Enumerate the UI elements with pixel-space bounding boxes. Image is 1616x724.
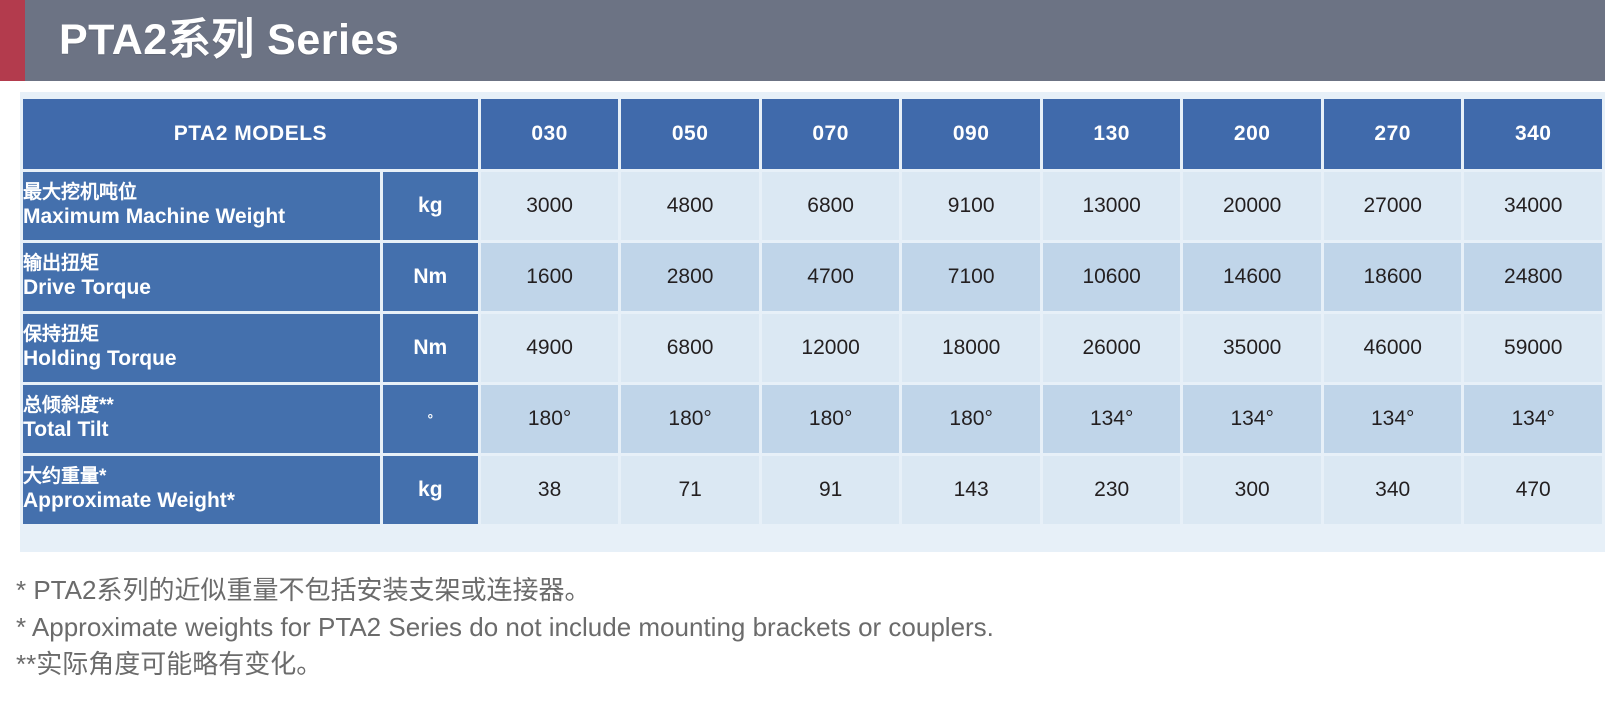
row-unit: kg <box>383 456 478 524</box>
row-label-en: Maximum Machine Weight <box>23 205 380 230</box>
row-label-cn: 总倾斜度** <box>23 395 380 417</box>
cell-value: 10600 <box>1043 243 1181 311</box>
row-label-cn: 输出扭矩 <box>23 253 380 275</box>
row-unit: Nm <box>383 314 478 382</box>
cell-value: 230 <box>1043 456 1181 524</box>
header-model-050: 050 <box>621 99 759 169</box>
spec-sheet-page: PTA2系列 Series PTA2 MODELS 030 050 070 09… <box>0 0 1616 724</box>
row-label-cn: 最大挖机吨位 <box>23 182 380 204</box>
cell-value: 4900 <box>481 314 619 382</box>
header-model-070: 070 <box>762 99 900 169</box>
cell-value: 24800 <box>1464 243 1602 311</box>
row-label-en: Drive Torque <box>23 276 380 301</box>
cell-value: 2800 <box>621 243 759 311</box>
row-label-total-tilt: 总倾斜度** Total Tilt <box>23 385 380 453</box>
spec-table: PTA2 MODELS 030 050 070 090 130 200 270 … <box>20 96 1605 527</box>
row-label-cn: 保持扭矩 <box>23 324 380 346</box>
row-label-holding-torque: 保持扭矩 Holding Torque <box>23 314 380 382</box>
row-label-en: Approximate Weight* <box>23 489 380 514</box>
cell-value: 71 <box>621 456 759 524</box>
cell-value: 180° <box>621 385 759 453</box>
header-model-030: 030 <box>481 99 619 169</box>
cell-value: 34000 <box>1464 172 1602 240</box>
cell-value: 180° <box>902 385 1040 453</box>
cell-value: 26000 <box>1043 314 1181 382</box>
table-header-row: PTA2 MODELS 030 050 070 090 130 200 270 … <box>23 99 1602 169</box>
row-label-en: Holding Torque <box>23 347 380 372</box>
footnote-line: * PTA2系列的近似重量不包括安装支架或连接器。 <box>16 572 1576 609</box>
footnote-line: **实际角度可能略有变化。 <box>16 646 1576 683</box>
cell-value: 340 <box>1324 456 1462 524</box>
cell-value: 9100 <box>902 172 1040 240</box>
footnotes: * PTA2系列的近似重量不包括安装支架或连接器。 * Approximate … <box>16 572 1576 683</box>
cell-value: 4800 <box>621 172 759 240</box>
cell-value: 143 <box>902 456 1040 524</box>
cell-value: 14600 <box>1183 243 1321 311</box>
cell-value: 300 <box>1183 456 1321 524</box>
row-label-max-machine-weight: 最大挖机吨位 Maximum Machine Weight <box>23 172 380 240</box>
cell-value: 18000 <box>902 314 1040 382</box>
banner-bar: PTA2系列 Series <box>25 0 1605 81</box>
table-row: 大约重量* Approximate Weight* kg 38 71 91 14… <box>23 456 1602 524</box>
table-row: 总倾斜度** Total Tilt ° 180° 180° 180° 180° … <box>23 385 1602 453</box>
footnote-line: * Approximate weights for PTA2 Series do… <box>16 609 1576 646</box>
cell-value: 7100 <box>902 243 1040 311</box>
title-banner: PTA2系列 Series <box>0 0 1605 81</box>
cell-value: 13000 <box>1043 172 1181 240</box>
header-model-270: 270 <box>1324 99 1462 169</box>
header-models-label: PTA2 MODELS <box>23 99 478 169</box>
cell-value: 134° <box>1464 385 1602 453</box>
row-label-drive-torque: 输出扭矩 Drive Torque <box>23 243 380 311</box>
row-label-cn: 大约重量* <box>23 466 380 488</box>
cell-value: 35000 <box>1183 314 1321 382</box>
cell-value: 134° <box>1183 385 1321 453</box>
banner-accent-bar <box>0 0 25 81</box>
cell-value: 18600 <box>1324 243 1462 311</box>
header-model-340: 340 <box>1464 99 1602 169</box>
row-unit: Nm <box>383 243 478 311</box>
cell-value: 3000 <box>481 172 619 240</box>
row-label-approximate-weight: 大约重量* Approximate Weight* <box>23 456 380 524</box>
cell-value: 46000 <box>1324 314 1462 382</box>
table-row: 输出扭矩 Drive Torque Nm 1600 2800 4700 7100… <box>23 243 1602 311</box>
cell-value: 1600 <box>481 243 619 311</box>
header-model-200: 200 <box>1183 99 1321 169</box>
row-unit: ° <box>383 385 478 453</box>
table-row: 最大挖机吨位 Maximum Machine Weight kg 3000 48… <box>23 172 1602 240</box>
cell-value: 180° <box>762 385 900 453</box>
row-unit: kg <box>383 172 478 240</box>
cell-value: 59000 <box>1464 314 1602 382</box>
cell-value: 470 <box>1464 456 1602 524</box>
cell-value: 6800 <box>762 172 900 240</box>
header-model-090: 090 <box>902 99 1040 169</box>
cell-value: 134° <box>1324 385 1462 453</box>
cell-value: 38 <box>481 456 619 524</box>
cell-value: 20000 <box>1183 172 1321 240</box>
cell-value: 134° <box>1043 385 1181 453</box>
cell-value: 12000 <box>762 314 900 382</box>
spec-table-container: PTA2 MODELS 030 050 070 090 130 200 270 … <box>20 92 1605 552</box>
cell-value: 6800 <box>621 314 759 382</box>
cell-value: 91 <box>762 456 900 524</box>
row-label-en: Total Tilt <box>23 418 380 443</box>
cell-value: 27000 <box>1324 172 1462 240</box>
cell-value: 180° <box>481 385 619 453</box>
page-title: PTA2系列 Series <box>25 19 399 62</box>
table-row: 保持扭矩 Holding Torque Nm 4900 6800 12000 1… <box>23 314 1602 382</box>
cell-value: 4700 <box>762 243 900 311</box>
header-model-130: 130 <box>1043 99 1181 169</box>
